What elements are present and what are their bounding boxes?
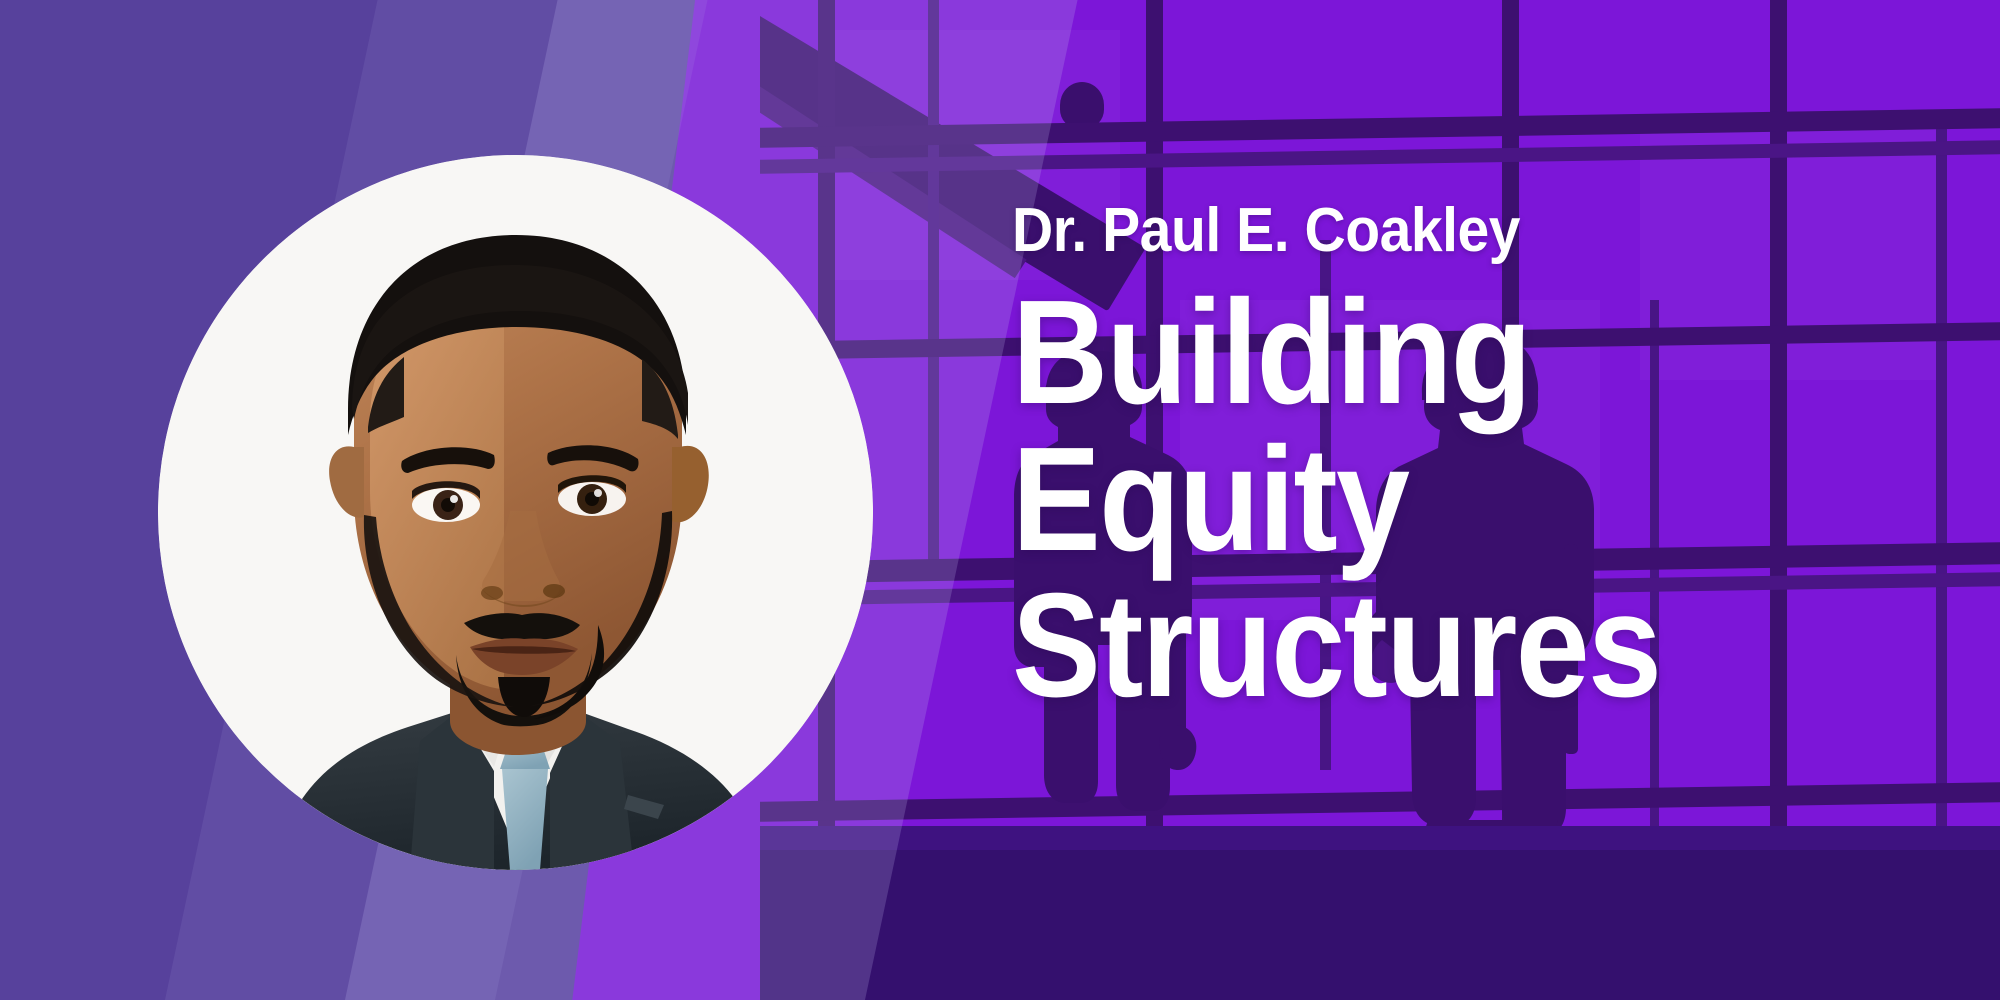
speaker-name: Dr. Paul E. Coakley — [1012, 200, 1675, 262]
scaffold-post — [1936, 120, 1947, 840]
promo-banner: Dr. Paul E. Coakley Building Equity Stru… — [0, 0, 2000, 1000]
headline-line-1: Building — [1012, 280, 1660, 427]
headline-line-2: Equity — [1012, 427, 1660, 574]
floor-band-lower — [760, 850, 2000, 1000]
speaker-portrait-avatar — [158, 155, 873, 870]
crane-hook-icon — [1060, 82, 1104, 128]
banner-text-block: Dr. Paul E. Coakley Building Equity Stru… — [1012, 200, 1732, 720]
headline-line-3: Structures — [1012, 573, 1660, 720]
scaffold-post — [928, 0, 939, 580]
